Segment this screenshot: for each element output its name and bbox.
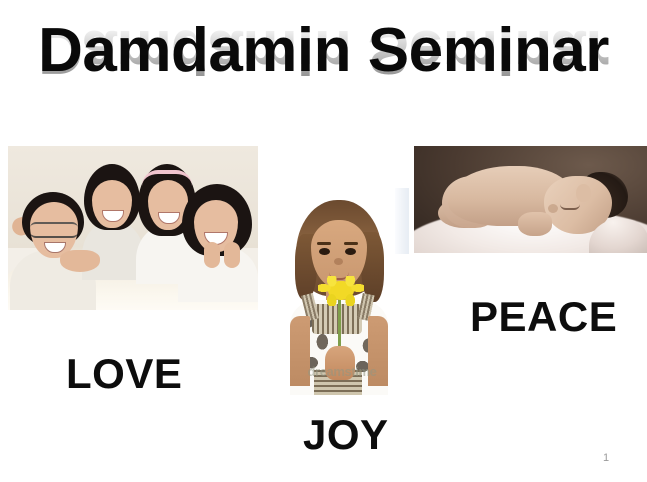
page-title-reflection: Damdamin Seminar <box>0 18 647 84</box>
girl-eyebrow-left <box>317 242 331 245</box>
eyeglasses-icon <box>30 222 78 238</box>
girl-eye-right <box>345 248 356 255</box>
girl-dress-bodice <box>312 304 362 334</box>
baby-nose <box>548 204 558 213</box>
girl-eye-left <box>319 248 330 255</box>
slide-page-number: 1 <box>596 452 616 464</box>
baby-closed-eye <box>560 204 580 210</box>
image-baby-left-margin <box>395 188 409 254</box>
image-watermark: dreamstime <box>294 364 390 379</box>
presentation-slide: Damdamin Seminar Damdamin Seminar <box>0 0 647 482</box>
label-peace: PEACE <box>470 295 617 339</box>
girl-nose <box>334 258 343 265</box>
yellow-flower-icon <box>318 276 364 306</box>
image-baby-peace <box>414 146 647 253</box>
baby-hands <box>518 212 552 236</box>
girl-eyebrow-right <box>344 242 358 245</box>
slide-title-block: Damdamin Seminar Damdamin Seminar <box>0 18 647 128</box>
image-girl-joy: dreamstime <box>282 198 395 395</box>
family-mother-hand-left <box>204 242 220 268</box>
label-joy: JOY <box>303 413 389 457</box>
family-hands <box>60 250 100 272</box>
family-mother-hand-right <box>224 242 240 268</box>
baby-ear <box>576 184 591 202</box>
label-love: LOVE <box>66 352 182 396</box>
image-family-love <box>8 146 258 310</box>
